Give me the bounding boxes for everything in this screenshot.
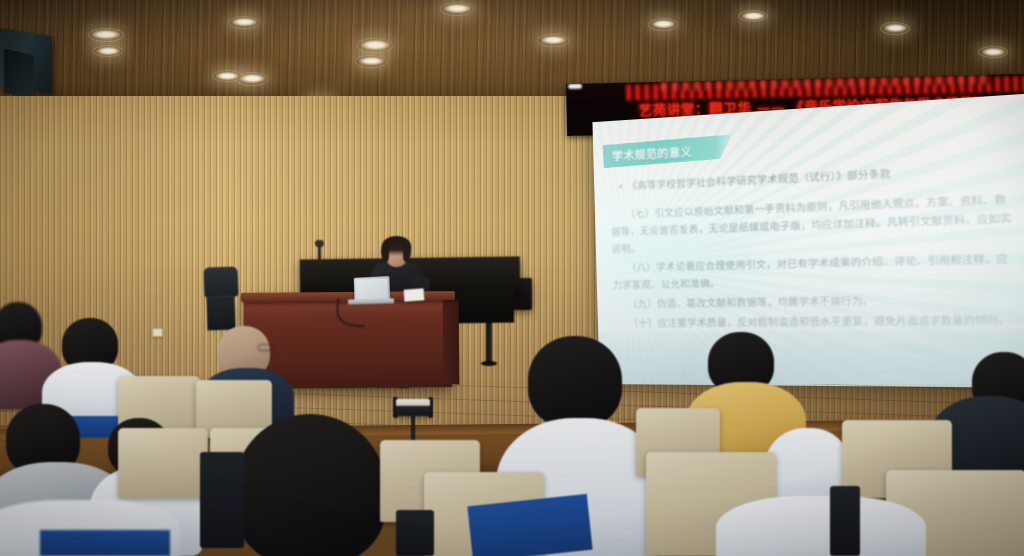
downlight-icon (216, 72, 239, 80)
seat-cushion (40, 530, 170, 556)
downlight-icon (652, 20, 675, 28)
lecture-hall-photo: 艺苑讲堂：翻卫华 —— 《音乐学论文写作与学术规范》 学术规范的意义 •《高等学… (0, 0, 1024, 556)
glasses-icon (258, 344, 274, 351)
screen-fade (592, 94, 1024, 388)
downlight-icon (361, 40, 390, 50)
downlight-icon (92, 30, 120, 39)
downlight-icon (97, 47, 120, 55)
downlight-icon (444, 4, 471, 13)
downlight-icon (240, 74, 265, 83)
projection-screen: 学术规范的意义 •《高等学校哲学社会科学研究学术规范（试行）》部分条款 （七）引… (592, 94, 1024, 388)
seat-frame (830, 486, 860, 556)
stage-piano-foot (481, 361, 497, 366)
laptop-screen (356, 278, 388, 299)
stage-chair-seat (206, 296, 235, 331)
desk-papers (404, 288, 425, 301)
downlight-icon (232, 18, 257, 26)
seat-frame (396, 510, 434, 556)
microphone-stand (318, 244, 321, 264)
banner-highlight (568, 84, 582, 89)
downlight-icon (359, 57, 384, 65)
downlight-icon (982, 48, 1005, 56)
audience-head (234, 414, 386, 556)
downlight-icon (884, 24, 907, 32)
microphone-icon (315, 240, 324, 247)
downlight-icon (541, 36, 566, 44)
presenter-hair (381, 244, 389, 262)
downlight-icon (742, 12, 765, 20)
seat-back (118, 428, 208, 498)
ceiling-speaker-icon (4, 48, 34, 99)
phone-camera-icon (396, 399, 430, 416)
seat-frame (200, 452, 244, 548)
audience-head (528, 336, 622, 428)
laptop-icon (354, 276, 390, 301)
stage-chair (203, 266, 238, 297)
wall-outlet-icon (152, 328, 163, 337)
lectern-side (443, 299, 460, 384)
audience-shoulders (716, 496, 926, 556)
